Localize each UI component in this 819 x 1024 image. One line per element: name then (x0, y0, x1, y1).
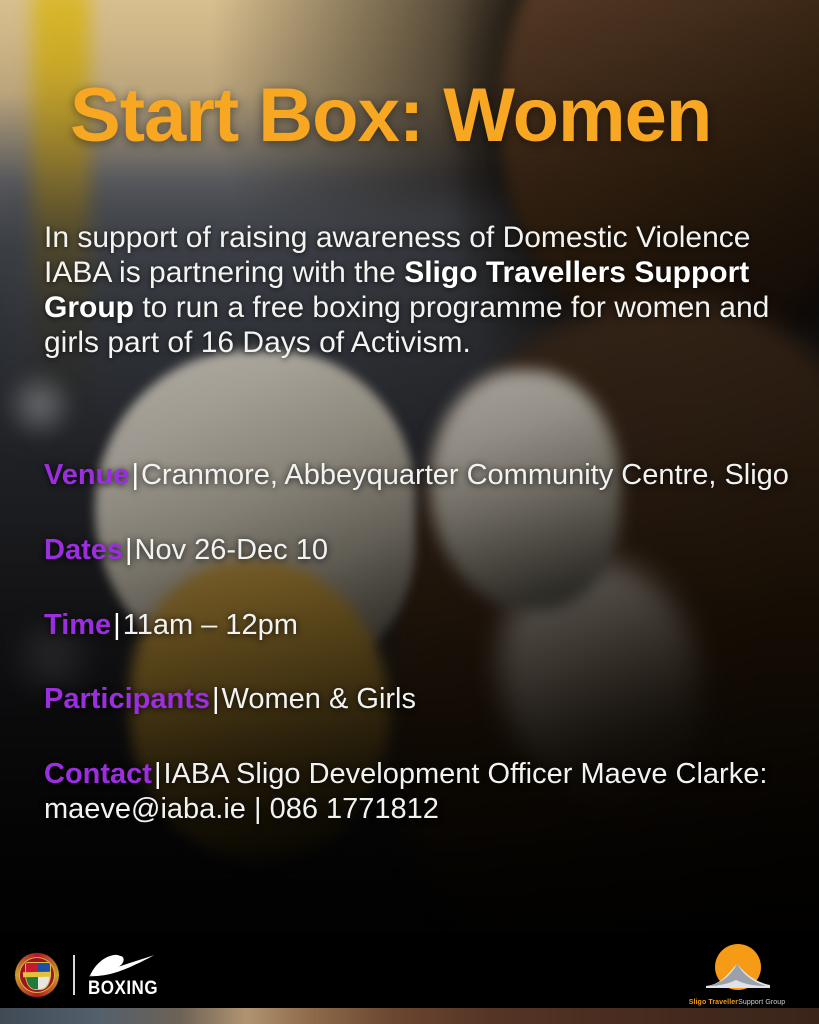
detail-separator-time: | (111, 609, 123, 641)
detail-row-time: Time|11am – 12pm (44, 608, 814, 643)
crest-gold-band (23, 972, 51, 977)
detail-separator-participants: | (210, 683, 222, 715)
stsg-wordmark-grey: Support Group (738, 999, 785, 1006)
detail-separator-dates: | (123, 534, 135, 566)
detail-label-contact: Contact (44, 758, 152, 790)
nike-swoosh-icon (88, 954, 156, 978)
detail-value-dates: Nov 26-Dec 10 (135, 534, 328, 566)
footer-logo-group-left: BOXING (14, 952, 158, 998)
detail-value-venue: Cranmore, Abbeyquarter Community Centre,… (141, 459, 789, 491)
nike-boxing-lockup: BOXING (88, 954, 158, 996)
stsg-mountain-shape (706, 958, 770, 988)
sligo-travellers-sun-mountain-icon (696, 944, 778, 990)
page-title: Start Box: Women (70, 78, 711, 154)
intro-text-part-2: to run a free boxing programme for women… (44, 291, 769, 359)
intro-paragraph: In support of raising awareness of Domes… (44, 220, 804, 360)
iaba-crest-icon (14, 952, 60, 998)
detail-row-dates: Dates|Nov 26-Dec 10 (44, 533, 814, 568)
detail-value-time: 11am – 12pm (123, 609, 298, 641)
details-list: Venue|Cranmore, Abbeyquarter Community C… (44, 458, 814, 827)
detail-label-participants: Participants (44, 683, 210, 715)
footer-photo-strip (0, 1008, 819, 1024)
footer-logo-divider (73, 955, 75, 995)
detail-label-dates: Dates (44, 534, 123, 566)
stsg-wordmark: Sligo TravellerSupport Group (677, 999, 797, 1006)
detail-row-participants: Participants|Women & Girls (44, 682, 814, 717)
detail-row-contact: Contact|IABA Sligo Development Officer M… (44, 757, 814, 827)
stsg-wordmark-orange: Sligo Traveller (689, 999, 738, 1006)
poster-canvas: Start Box: Women In support of raising a… (0, 0, 819, 1024)
poster-content: Start Box: Women In support of raising a… (0, 0, 819, 1024)
detail-separator-venue: | (129, 459, 141, 491)
detail-label-time: Time (44, 609, 111, 641)
sligo-travellers-support-group-logo: Sligo TravellerSupport Group (677, 944, 797, 1006)
detail-value-participants: Women & Girls (222, 683, 416, 715)
detail-separator-contact: | (152, 758, 164, 790)
nike-boxing-wordmark: BOXING (88, 978, 158, 998)
detail-label-venue: Venue (44, 459, 129, 491)
detail-row-venue: Venue|Cranmore, Abbeyquarter Community C… (44, 458, 814, 493)
